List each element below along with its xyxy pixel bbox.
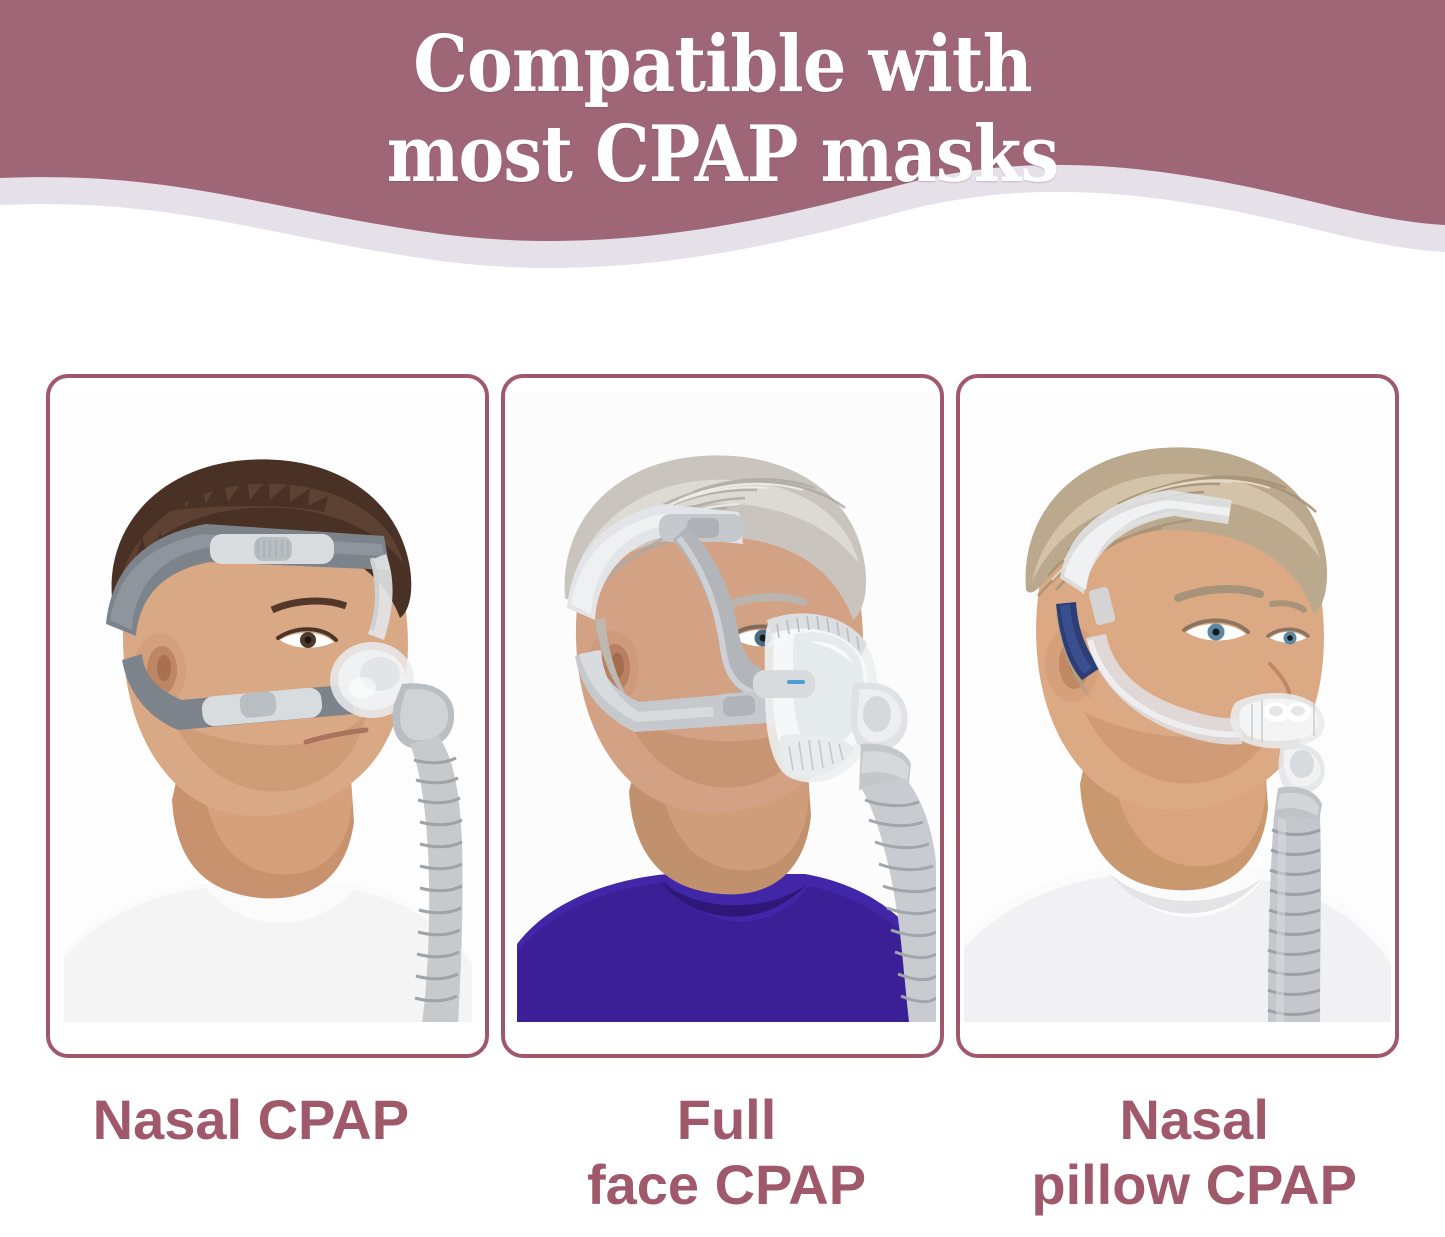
mask-cards-row: [0, 374, 1445, 1064]
card-label-line-1: Full: [496, 1088, 958, 1153]
page-title-line-1: Compatible with: [87, 20, 1359, 110]
card-label-line-1: Nasal CPAP: [20, 1088, 482, 1153]
card-label-full-face-cpap: Full face CPAP: [496, 1084, 958, 1234]
card-label-line-2: face CPAP: [496, 1153, 958, 1218]
mask-card-full-face-cpap[interactable]: [501, 374, 944, 1058]
nasal-pillow-cpap-mask-photo: [964, 392, 1391, 1022]
page-title-line-2: most CPAP masks: [87, 110, 1359, 200]
card-label-nasal-cpap: Nasal CPAP: [20, 1084, 496, 1234]
page-title: Compatible with most CPAP masks: [87, 20, 1359, 201]
card-label-line-1: Nasal: [963, 1088, 1425, 1153]
nasal-cpap-mask-photo: [54, 392, 481, 1022]
card-label-nasal-pillow-cpap: Nasal pillow CPAP: [957, 1084, 1425, 1234]
mask-card-nasal-cpap[interactable]: [46, 374, 489, 1058]
full-face-cpap-mask-photo: [509, 392, 936, 1022]
mask-card-nasal-pillow-cpap[interactable]: [956, 374, 1399, 1058]
header-banner: Compatible with most CPAP masks: [0, 0, 1445, 300]
card-label-line-2: pillow CPAP: [963, 1153, 1425, 1218]
mask-labels-row: Nasal CPAP Full face CPAP Nasal pillow C…: [0, 1084, 1445, 1234]
mask-brand-accent: [787, 680, 805, 684]
